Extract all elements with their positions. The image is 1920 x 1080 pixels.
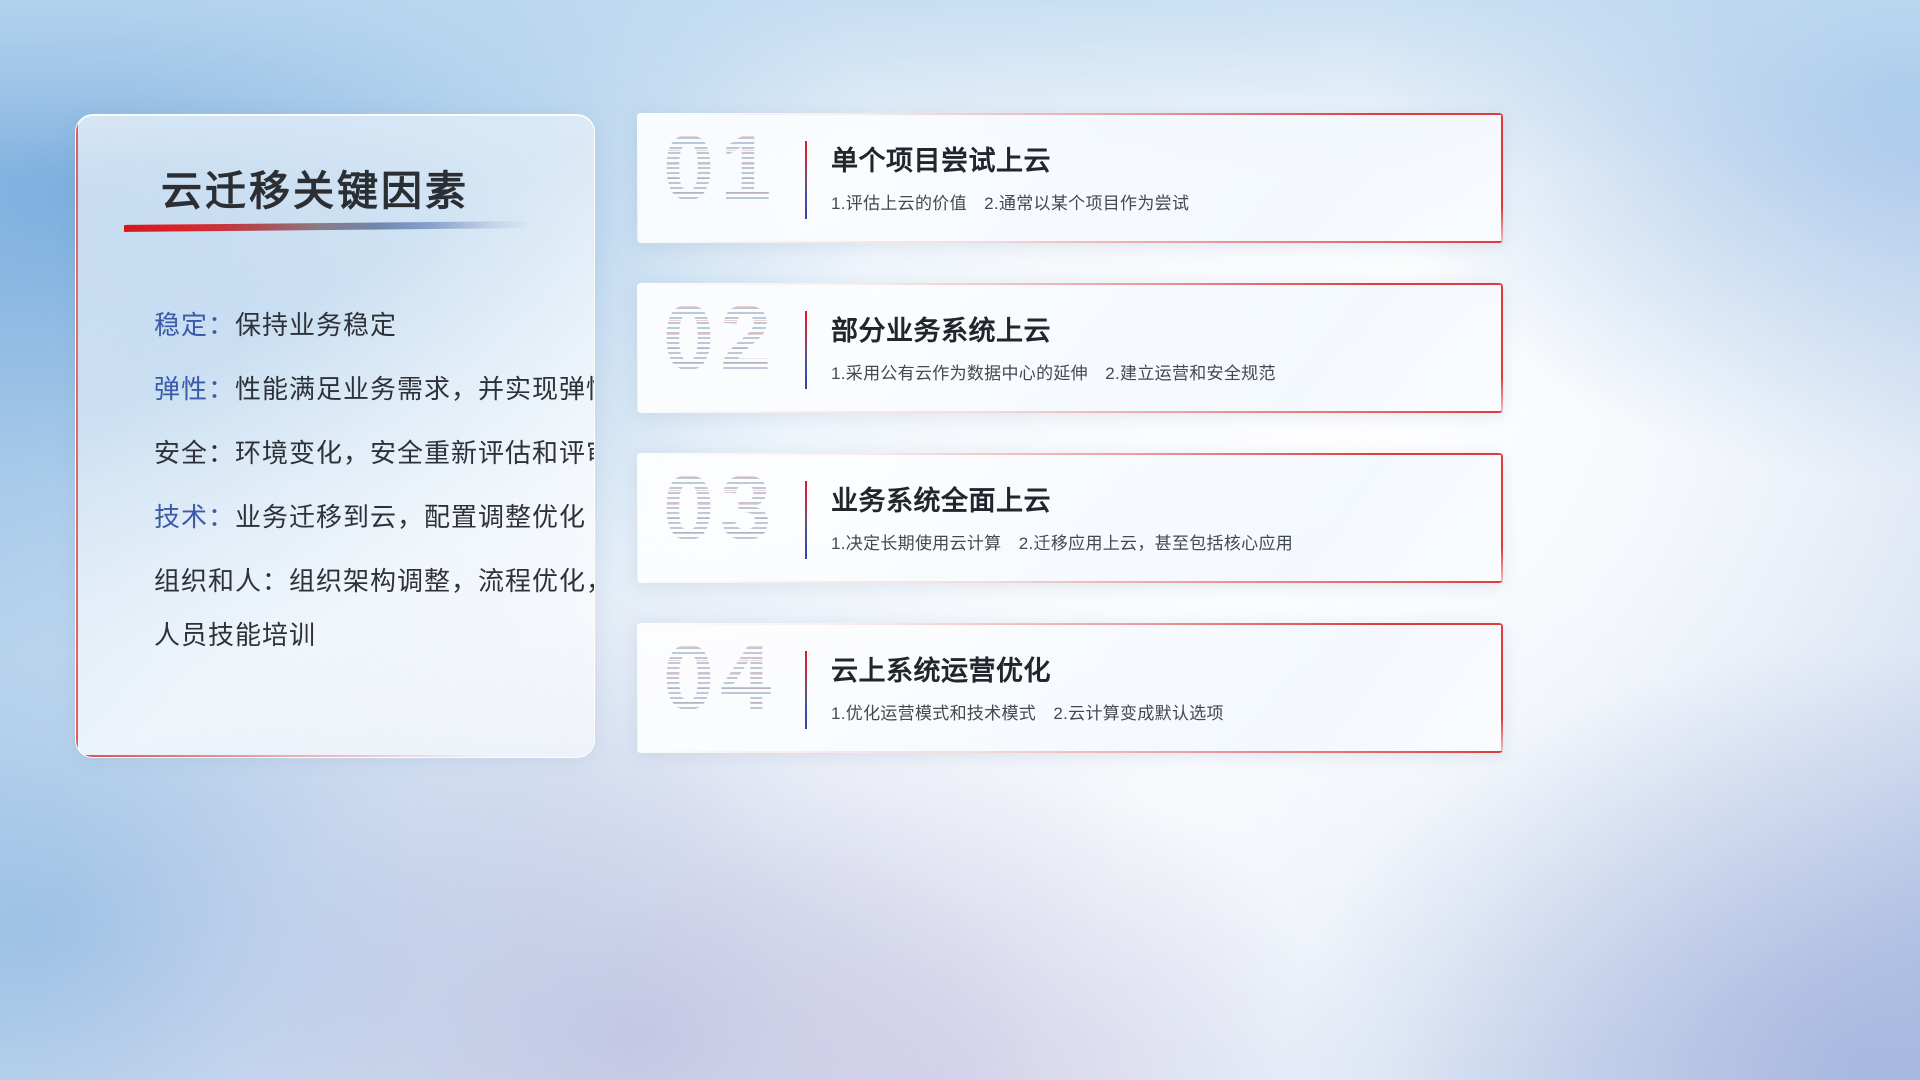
key-factors-panel: 云迁移关键因素 稳定：保持业务稳定弹性：性能满足业务需求，并实现弹性安全：环境变… — [75, 114, 595, 758]
key-factors-list: 稳定：保持业务稳定弹性：性能满足业务需求，并实现弹性安全：环境变化，安全重新评估… — [154, 311, 570, 649]
stage-number-watermark: 01 — [663, 122, 777, 214]
card-accent-left-edge — [637, 113, 638, 243]
stage-number-watermark: 04 — [663, 632, 777, 724]
key-factor-label: 组织和人： — [154, 566, 289, 596]
stage-divider-bar — [805, 141, 807, 219]
card-accent-top-edge — [637, 113, 1503, 115]
key-factor-text: 组织架构调整，流程优化， — [289, 566, 595, 596]
card-accent-right-edge — [1501, 623, 1503, 753]
card-accent-right-edge — [1501, 283, 1503, 413]
card-accent-bottom-edge — [637, 581, 1503, 583]
card-accent-top-edge — [637, 283, 1503, 285]
key-factor-label: 弹性： — [154, 374, 235, 404]
key-factor-label: 稳定： — [154, 310, 235, 340]
key-factor-text: 保持业务稳定 — [235, 310, 397, 340]
key-factor-item: 组织和人：组织架构调整，流程优化， — [154, 567, 570, 595]
card-accent-right-edge — [1501, 453, 1503, 583]
stage-number-watermark: 02 — [663, 292, 777, 384]
stage-divider-bar — [805, 311, 807, 389]
key-factor-item: 人员技能培训 — [154, 621, 570, 649]
stage-heading: 业务系统全面上云 — [831, 479, 1051, 518]
key-factor-label: 技术： — [154, 502, 235, 532]
stage-description: 1.优化运营模式和技术模式 2.云计算变成默认选项 — [831, 699, 1224, 724]
stage-divider-bar — [805, 481, 807, 559]
card-accent-right-edge — [1501, 113, 1503, 243]
stage-heading: 云上系统运营优化 — [831, 649, 1051, 688]
card-accent-left-edge — [637, 453, 638, 583]
key-factor-item: 安全：环境变化，安全重新评估和评审 — [154, 439, 570, 467]
card-accent-top-edge — [637, 453, 1503, 455]
cloud-migration-stages: 0101单个项目尝试上云1.评估上云的价值 2.通常以某个项目作为尝试0202部… — [637, 113, 1503, 753]
stage-number-watermark: 03 — [663, 462, 777, 554]
stage-card[interactable]: 0101单个项目尝试上云1.评估上云的价值 2.通常以某个项目作为尝试 — [637, 113, 1503, 243]
key-factor-text: 人员技能培训 — [154, 620, 316, 650]
title-underline-rule — [124, 221, 532, 232]
key-factor-text: 性能满足业务需求，并实现弹性 — [235, 374, 595, 404]
stage-description: 1.决定长期使用云计算 2.迁移应用上云，甚至包括核心应用 — [831, 529, 1293, 554]
key-factor-item: 稳定：保持业务稳定 — [154, 311, 570, 339]
card-accent-left-edge — [637, 623, 638, 753]
card-accent-left-edge — [637, 283, 638, 413]
stage-card[interactable]: 0303业务系统全面上云1.决定长期使用云计算 2.迁移应用上云，甚至包括核心应… — [637, 453, 1503, 583]
page-title: 云迁移关键因素 — [161, 157, 469, 217]
stage-description: 1.评估上云的价值 2.通常以某个项目作为尝试 — [831, 189, 1189, 214]
card-accent-top-edge — [637, 623, 1503, 625]
key-factor-text: 业务迁移到云，配置调整优化 — [235, 502, 586, 532]
key-factor-item: 技术：业务迁移到云，配置调整优化 — [154, 503, 570, 531]
stage-description: 1.采用公有云作为数据中心的延伸 2.建立运营和安全规范 — [831, 359, 1276, 384]
card-accent-bottom-edge — [637, 241, 1503, 243]
stage-card[interactable]: 0404云上系统运营优化1.优化运营模式和技术模式 2.云计算变成默认选项 — [637, 623, 1503, 753]
stage-divider-bar — [805, 651, 807, 729]
stage-heading: 单个项目尝试上云 — [831, 139, 1051, 178]
key-factor-item: 弹性：性能满足业务需求，并实现弹性 — [154, 375, 570, 403]
key-factor-text: 环境变化，安全重新评估和评审 — [235, 438, 595, 468]
key-factor-label: 安全： — [154, 438, 235, 468]
stage-heading: 部分业务系统上云 — [831, 309, 1051, 348]
stage-card[interactable]: 0202部分业务系统上云1.采用公有云作为数据中心的延伸 2.建立运营和安全规范 — [637, 283, 1503, 413]
card-accent-bottom-edge — [637, 411, 1503, 413]
card-accent-bottom-edge — [637, 751, 1503, 753]
